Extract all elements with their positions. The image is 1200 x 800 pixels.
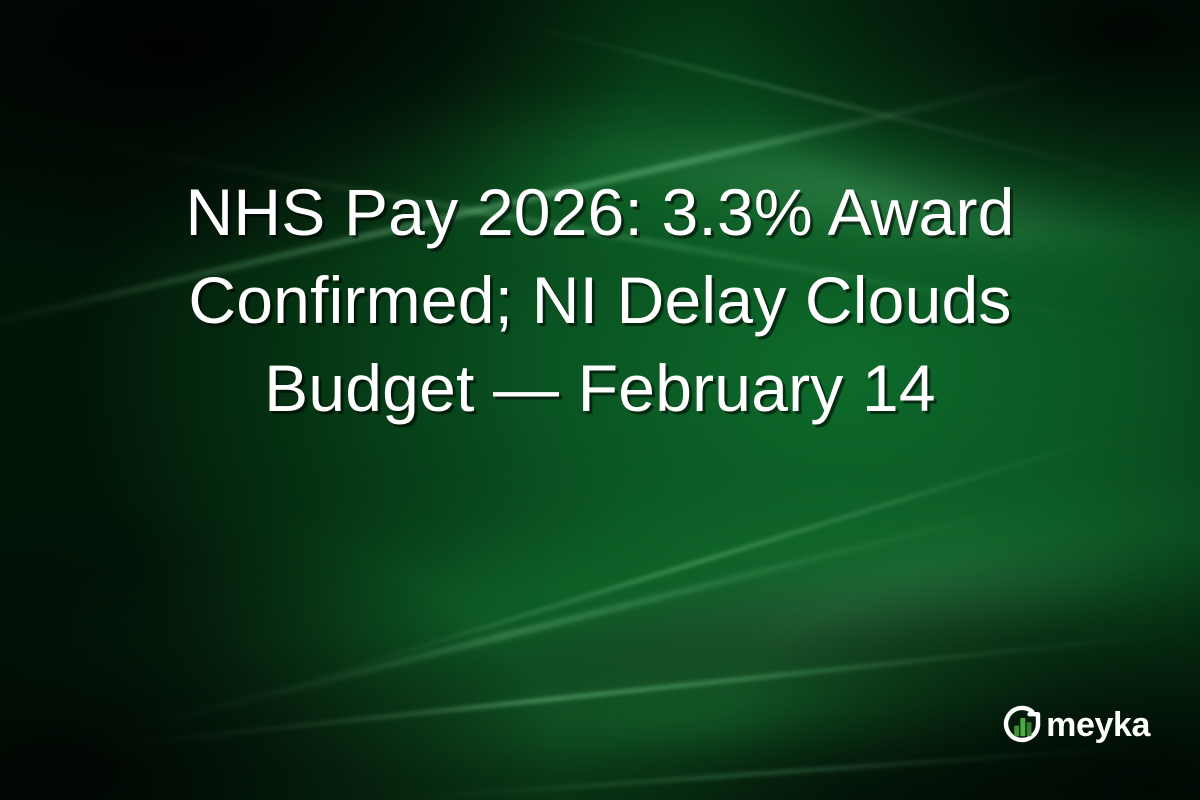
meyka-logo[interactable]: meyka — [999, 702, 1150, 748]
meyka-wordmark: meyka — [1046, 708, 1150, 742]
headline-line-3: Budget — February 14 — [56, 344, 1144, 432]
meyka-circle-bars-logo-icon — [999, 702, 1045, 748]
headline-line-1: NHS Pay 2026: 3.3% Award — [56, 168, 1144, 256]
title-card: NHS Pay 2026: 3.3% Award Confirmed; NI D… — [0, 0, 1200, 800]
headline: NHS Pay 2026: 3.3% Award Confirmed; NI D… — [0, 168, 1200, 432]
headline-line-2: Confirmed; NI Delay Clouds — [56, 256, 1144, 344]
